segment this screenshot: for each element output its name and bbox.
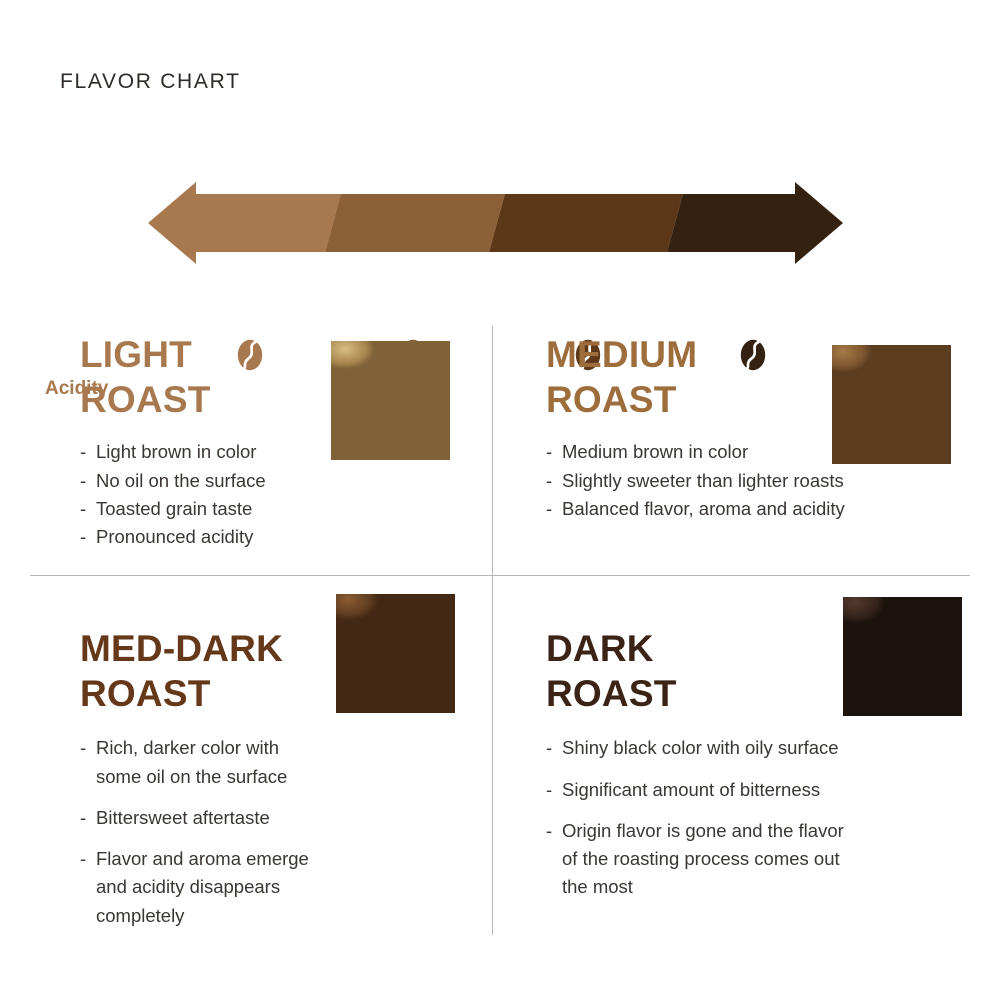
dark-roast-beans-photo (843, 597, 962, 716)
bullet-text: Light brown in color (96, 441, 256, 462)
bullet-dash: - (546, 438, 552, 466)
med-dark-roast-beans-photo (336, 594, 455, 713)
bullet-dash: - (546, 495, 552, 523)
grid-divider-vertical (492, 326, 493, 935)
light-roast-beans-photo (331, 341, 450, 460)
bullet-dash: - (80, 467, 86, 495)
bean-texture (843, 597, 962, 716)
roast-card-bullets: -Rich, darker color with some oil on the… (80, 734, 480, 930)
bullet-text: Pronounced acidity (96, 526, 253, 547)
bullet-dash: - (546, 467, 552, 495)
bullet-text: Toasted grain taste (96, 498, 252, 519)
bullet-text: Slightly sweeter than lighter roasts (562, 470, 844, 491)
bullet-text: No oil on the surface (96, 470, 266, 491)
list-item: -Pronounced acidity (80, 523, 480, 551)
scale-segment-dark (660, 168, 870, 278)
bean-texture (336, 594, 455, 713)
bullet-dash: - (80, 438, 86, 466)
bean-texture (832, 345, 951, 464)
page-title: FLAVOR CHART (60, 70, 241, 94)
bullet-text: Balanced flavor, aroma and acidity (562, 498, 845, 519)
bullet-text: Rich, darker color with some oil on the … (96, 737, 287, 786)
bullet-dash: - (80, 734, 86, 762)
bean-texture (331, 341, 450, 460)
medium-roast-beans-photo (832, 345, 951, 464)
bullet-text: Bittersweet aftertaste (96, 807, 270, 828)
bullet-dash: - (80, 495, 86, 523)
list-item: -Origin flavor is gone and the flavor of… (546, 817, 966, 902)
roast-scale-band: Acidity Bitterness LIGHT MEDIUM MED-DARK… (0, 168, 1001, 278)
list-item: -Shiny black color with oily surface (546, 734, 966, 762)
grid-divider-horizontal (30, 575, 970, 576)
scale-segment-medium (318, 168, 512, 278)
scale-segment-med-dark (482, 168, 690, 278)
bullet-text: Significant amount of bitterness (562, 779, 820, 800)
bullet-text: Medium brown in color (562, 441, 748, 462)
bullet-dash: - (546, 817, 552, 845)
list-item: -No oil on the surface (80, 467, 480, 495)
list-item: -Bittersweet aftertaste (80, 804, 480, 832)
bullet-dash: - (80, 804, 86, 832)
list-item: -Rich, darker color with some oil on the… (80, 734, 480, 791)
bullet-dash: - (80, 523, 86, 551)
bullet-text: Origin flavor is gone and the flavor of … (562, 820, 844, 898)
list-item: -Balanced flavor, aroma and acidity (546, 495, 966, 523)
list-item: -Toasted grain taste (80, 495, 480, 523)
bullet-dash: - (80, 845, 86, 873)
roast-card-bullets: -Shiny black color with oily surface -Si… (546, 734, 966, 901)
roast-gradient-arrow (0, 168, 1001, 278)
list-item: -Significant amount of bitterness (546, 776, 966, 804)
scale-segment-light (140, 168, 348, 278)
list-item: -Slightly sweeter than lighter roasts (546, 467, 966, 495)
bullet-text: Shiny black color with oily surface (562, 737, 839, 758)
bullet-dash: - (546, 776, 552, 804)
list-item: -Flavor and aroma emerge and acidity dis… (80, 845, 480, 930)
bullet-dash: - (546, 734, 552, 762)
bullet-text: Flavor and aroma emerge and acidity disa… (96, 848, 309, 926)
